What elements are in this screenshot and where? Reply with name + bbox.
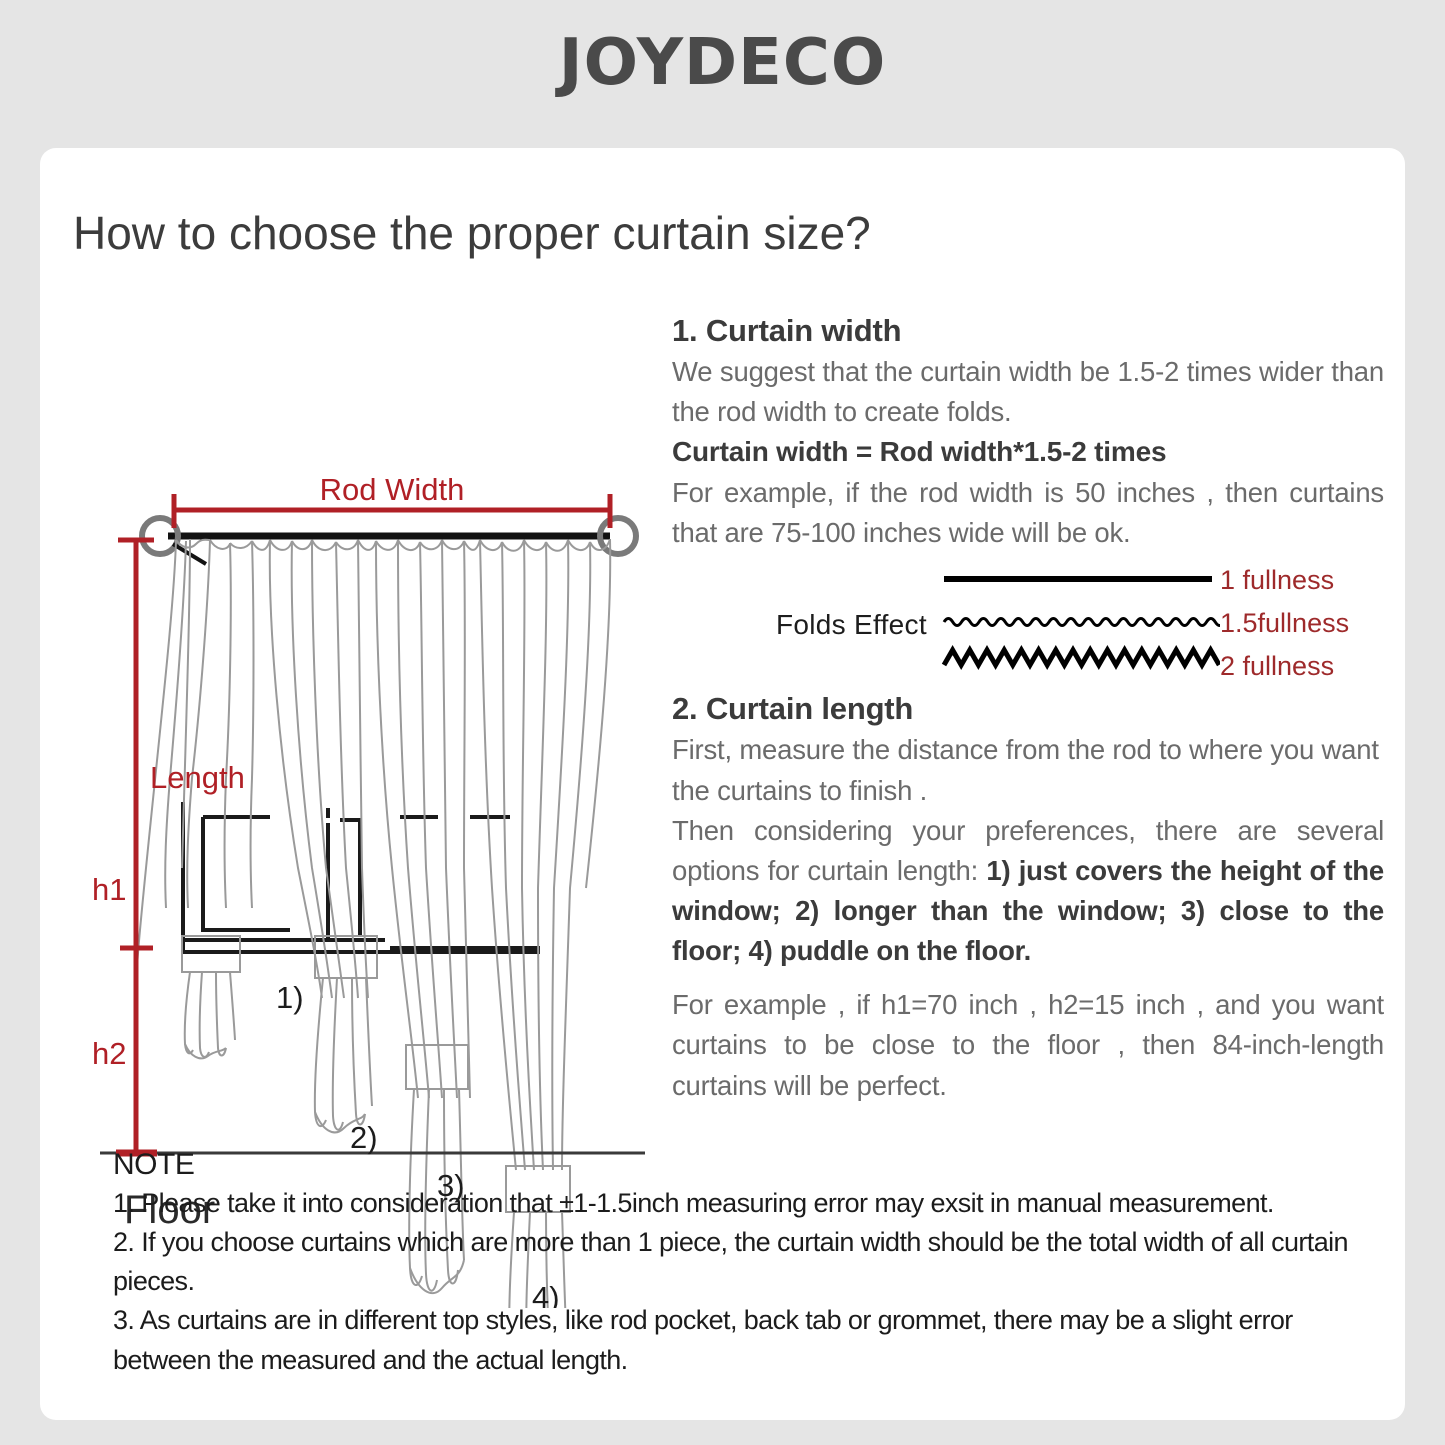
fullness-label-3: 2 fullness (1220, 651, 1334, 682)
note-item: 2. If you choose curtains which are more… (113, 1223, 1373, 1301)
section2-paragraph2: Then considering your preferences, there… (672, 811, 1384, 972)
note-title: NOTE (113, 1148, 1373, 1182)
section2-paragraph3: For example , if h1=70 inch , h2=15 inch… (672, 985, 1384, 1105)
note-item: 3. As curtains are in different top styl… (113, 1301, 1373, 1379)
section1-paragraph1: We suggest that the curtain width be 1.5… (672, 352, 1384, 432)
fullness-15-wave (944, 619, 1220, 626)
fullness-label-1: 1 fullness (1220, 565, 1334, 596)
rod-width-label: Rod Width (320, 472, 465, 507)
section1-heading: 1. Curtain width (672, 313, 1384, 349)
folds-effect-svg (940, 565, 1220, 685)
folds-effect-label: Folds Effect (776, 609, 927, 641)
h2-label: h2 (92, 1036, 126, 1071)
section2-heading: 2. Curtain length (672, 691, 1384, 727)
section2-paragraph1: First, measure the distance from the rod… (672, 730, 1384, 810)
infographic-page: JOYDECO How to choose the proper curtain… (0, 0, 1445, 1445)
fullness-label-2: 1.5fullness (1220, 608, 1349, 639)
page-title: How to choose the proper curtain size? (73, 206, 871, 260)
note-block: NOTE 1. Please take it into consideratio… (113, 1148, 1373, 1380)
folds-effect-block: Folds Effect 1 fullness 1.5fullness 2 fu… (672, 565, 1384, 691)
h1-label: h1 (92, 872, 126, 907)
fullness-2-zigzag (944, 650, 1219, 665)
section1-formula: Curtain width = Rod width*1.5-2 times (672, 432, 1384, 473)
length-label: Length (150, 760, 245, 795)
section1-paragraph2: For example, if the rod width is 50 inch… (672, 473, 1384, 553)
instructions-column: 1. Curtain width We suggest that the cur… (672, 313, 1384, 1106)
content-card: How to choose the proper curtain size? (40, 148, 1405, 1420)
note-item: 1. Please take it into consideration tha… (113, 1184, 1373, 1223)
curtain-marker-1: 1) (276, 980, 304, 1015)
brand-logo: JOYDECO (0, 26, 1445, 100)
